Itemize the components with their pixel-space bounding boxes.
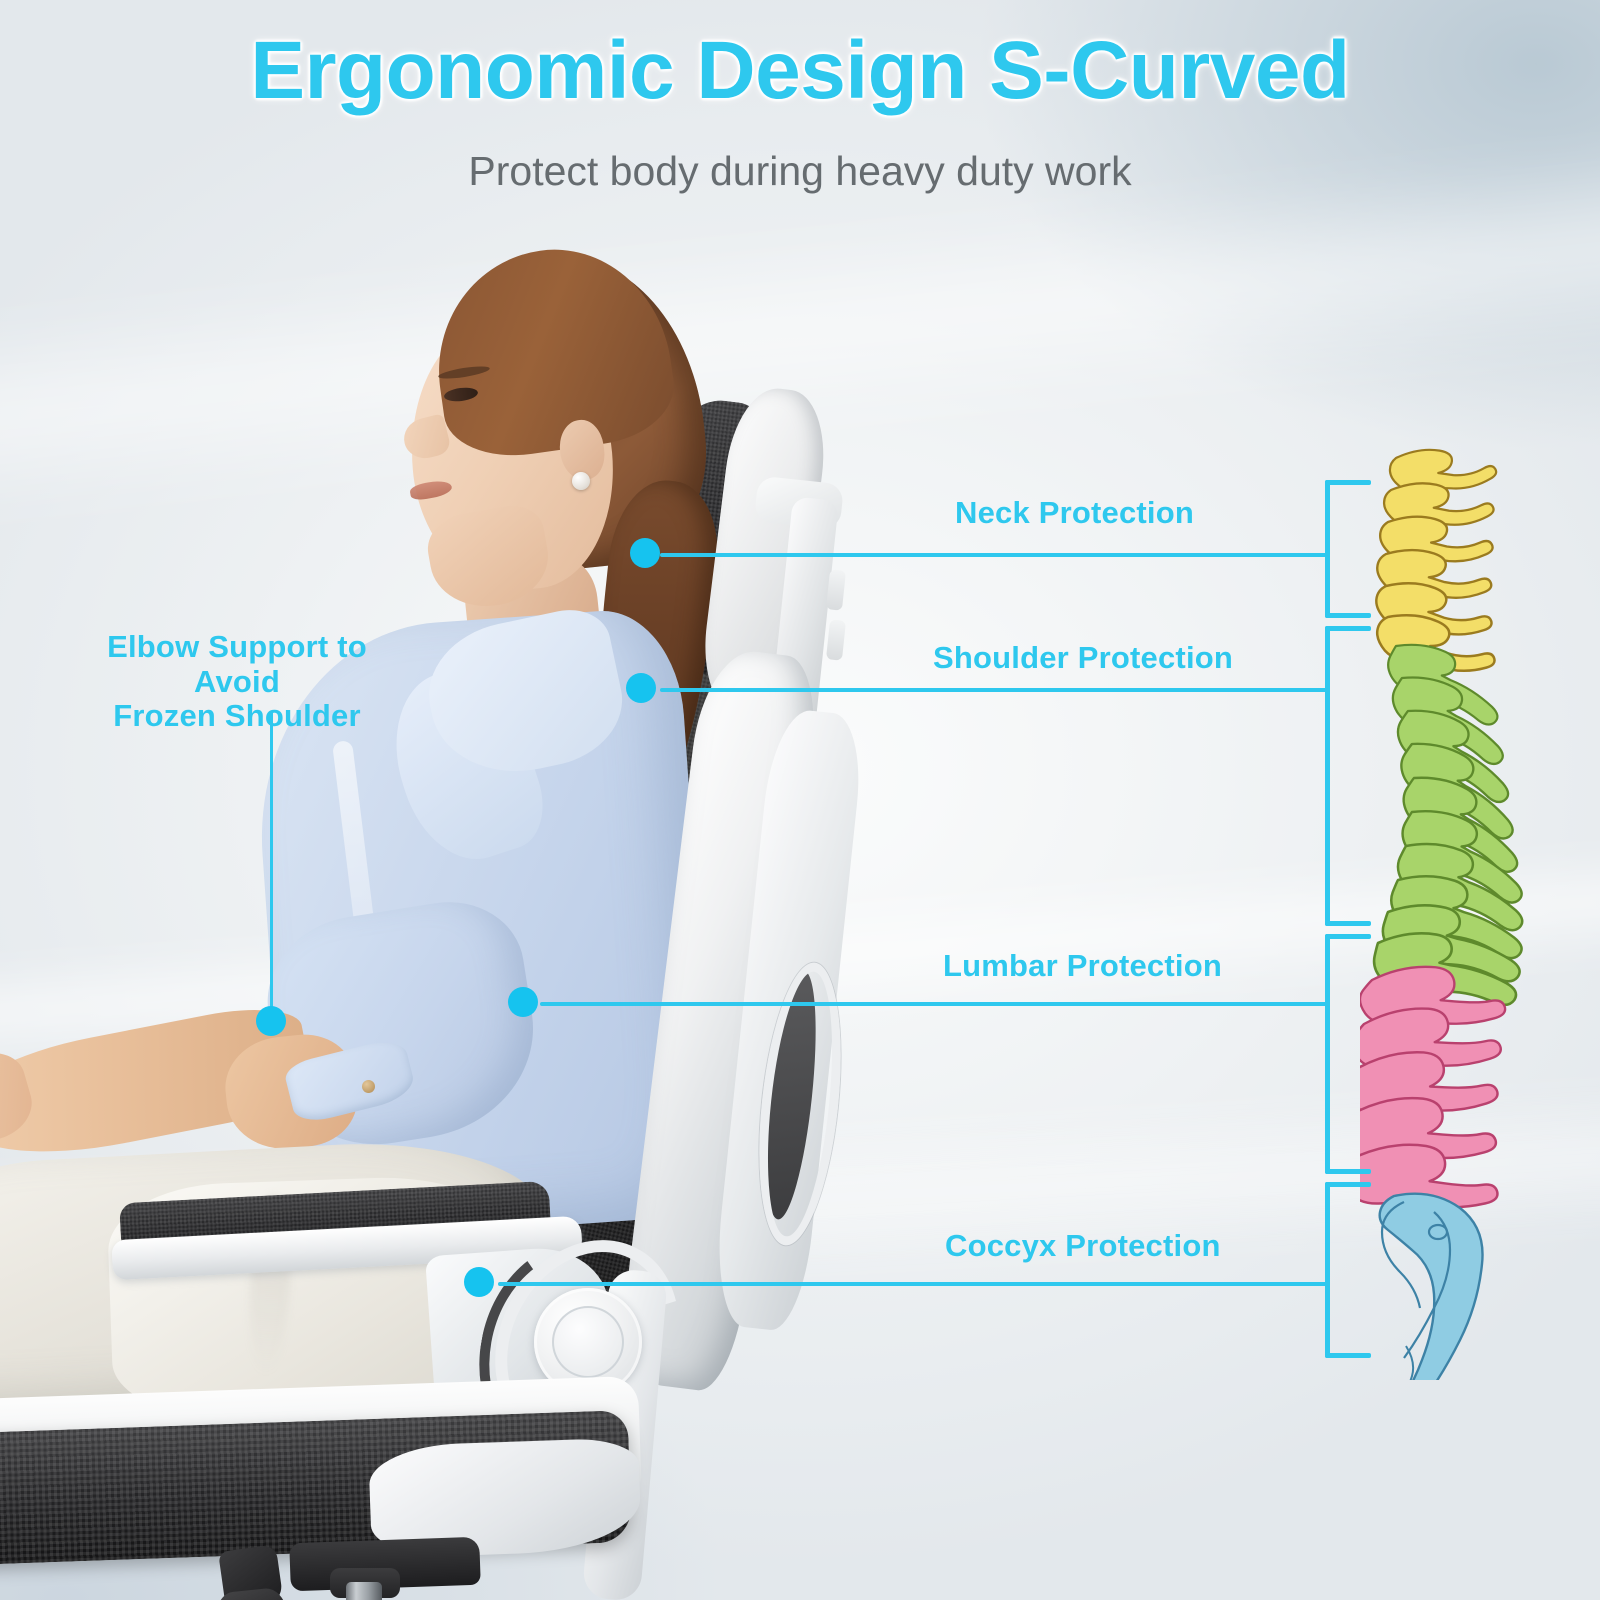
callout-label-shoulder: Shoulder Protection [933,640,1233,676]
callout-label-coccyx: Coccyx Protection [945,1228,1221,1264]
callout-line-shoulder [660,688,1328,692]
pearl-earring [572,472,590,490]
bracket-stem [1325,934,1330,1174]
spine-illustration [1360,440,1600,1380]
coccyx-bracket [1325,1182,1371,1358]
product-photo [0,150,1000,1600]
bracket-stem [1325,626,1330,926]
spine-region-cervical [1373,443,1499,676]
bracket-arm-bottom [1325,1353,1371,1358]
spine-region-thoracic [1372,640,1535,1014]
callout-line-elbow [270,712,273,1020]
cervical-bracket [1325,480,1371,618]
cuff-button [362,1080,375,1093]
page-title: Ergonomic Design S-Curved [0,24,1600,118]
bracket-stem [1325,1182,1330,1358]
bracket-arm-top [1325,934,1371,939]
bracket-stem [1325,480,1330,618]
lumbar-bracket [1325,934,1371,1174]
bracket-arm-bottom [1325,613,1371,618]
bracket-arm-top [1325,1182,1371,1187]
hair-crown [423,235,681,465]
headrest-notch-lower [826,619,846,660]
bracket-arm-bottom [1325,1169,1371,1174]
gas-cylinder [346,1582,382,1600]
callout-dot-coccyx [464,1267,494,1297]
callout-label-lumbar: Lumbar Protection [943,948,1222,984]
headrest-notch-upper [826,569,846,610]
bracket-arm-top [1325,626,1371,631]
callout-dot-lumbar [508,987,538,1017]
infographic-canvas: Ergonomic Design S-Curved Protect body d… [0,0,1600,1600]
callout-dot-elbow [256,1006,286,1036]
callout-label-neck: Neck Protection [955,495,1194,531]
page-subtitle: Protect body during heavy duty work [0,148,1600,195]
lumbar-adjust-knob-inner [552,1306,624,1378]
callout-line-neck [660,553,1328,557]
bracket-arm-top [1325,480,1371,485]
callout-label-elbow: Elbow Support to Avoid Frozen Shoulder [72,630,402,734]
spine-region-sacrum-coccyx [1380,1194,1483,1380]
callout-line-coccyx [498,1282,1328,1286]
bracket-arm-bottom [1325,921,1371,926]
callout-label-elbow-line1: Elbow Support to Avoid [107,629,367,699]
callout-dot-shoulder [626,673,656,703]
callout-dot-neck [630,538,660,568]
callout-line-lumbar [540,1002,1328,1006]
callout-label-elbow-line2: Frozen Shoulder [113,698,361,733]
thoracic-bracket [1325,626,1371,926]
